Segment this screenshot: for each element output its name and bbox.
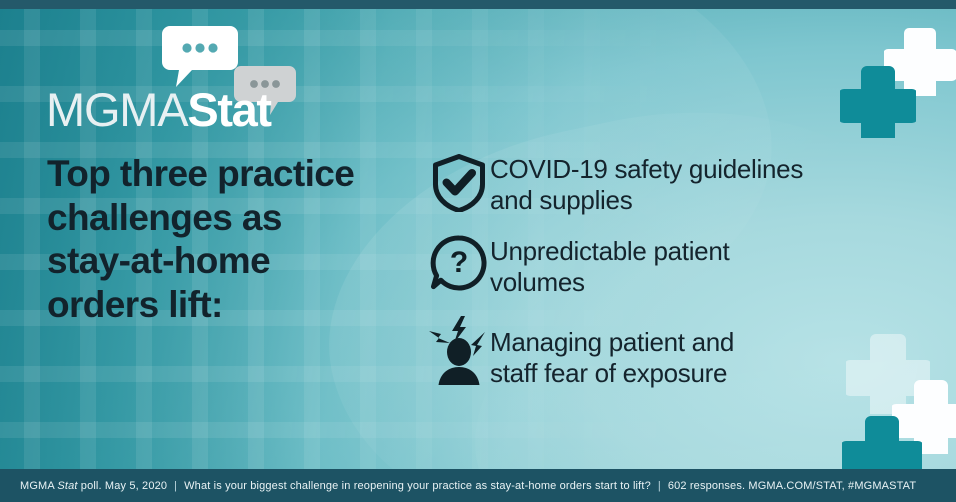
- headline-line-4: orders lift:: [47, 283, 407, 327]
- logo-word-stat: Stat: [187, 83, 270, 136]
- list-item-line-2: staff fear of exposure: [490, 358, 727, 388]
- footer-hashtag: #MGMASTAT: [848, 480, 916, 492]
- footer-source-prefix: MGMA: [20, 480, 57, 492]
- footer-question: What is your biggest challenge in reopen…: [184, 480, 651, 492]
- headline-line-3: stay-at-home: [47, 239, 407, 283]
- list-item-line-1: Unpredictable patient: [490, 236, 729, 266]
- shield-check-icon: [428, 152, 490, 216]
- list-item-line-2: and supplies: [490, 185, 632, 215]
- list-item-line-1: Managing patient and: [490, 327, 734, 357]
- challenge-list: COVID-19 safety guidelines and supplies …: [428, 152, 928, 405]
- infographic-canvas: MGMAStat Top three practice challenges a…: [0, 0, 956, 502]
- question-speech-bubble-icon: ?: [428, 232, 490, 296]
- footer-source-line: MGMA Stat poll. May 5, 2020|What is your…: [0, 480, 916, 492]
- footer-bar: MGMA Stat poll. May 5, 2020|What is your…: [0, 469, 956, 502]
- list-item: Managing patient and staff fear of expos…: [428, 313, 928, 388]
- footer-source-suffix: poll. May 5, 2020: [78, 480, 168, 492]
- headline-line-2: challenges as: [47, 196, 407, 240]
- footer-url: MGMA.COM/STAT,: [748, 480, 844, 492]
- mgma-stat-logo: MGMAStat: [46, 26, 306, 130]
- footer-source-em: Stat: [57, 480, 77, 492]
- list-item-line-1: COVID-19 safety guidelines: [490, 154, 803, 184]
- stressed-person-icon: [428, 313, 490, 377]
- list-item-text: Managing patient and staff fear of expos…: [490, 313, 734, 388]
- footer-separator-2: |: [651, 480, 668, 492]
- list-item-text: COVID-19 safety guidelines and supplies: [490, 152, 803, 215]
- headline-line-1: Top three practice: [47, 152, 407, 196]
- svg-text:?: ?: [450, 246, 468, 279]
- page-title: Top three practice challenges as stay-at…: [47, 152, 407, 327]
- top-accent-bar: [0, 0, 956, 9]
- list-item: COVID-19 safety guidelines and supplies: [428, 152, 928, 216]
- logo-word-mgma: MGMA: [46, 83, 187, 136]
- footer-separator-1: |: [167, 480, 184, 492]
- list-item: ? Unpredictable patient volumes: [428, 232, 928, 297]
- cross-teal-icon: [840, 62, 916, 138]
- footer-responses: 602 responses.: [668, 480, 745, 492]
- list-item-text: Unpredictable patient volumes: [490, 232, 729, 297]
- list-item-line-2: volumes: [490, 267, 585, 297]
- logo-wordmark: MGMAStat: [46, 86, 271, 133]
